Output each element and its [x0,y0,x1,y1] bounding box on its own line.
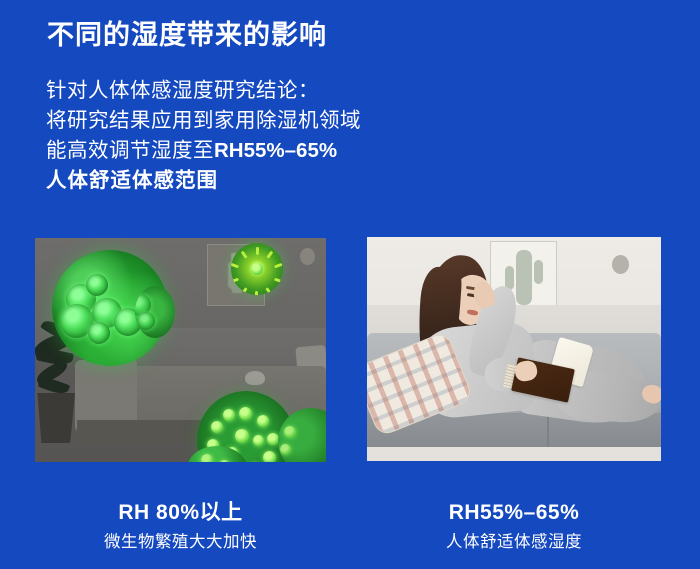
microbe-cell [280,444,291,455]
body-line-2: 将研究结果应用到家用除湿机领域 [46,106,361,136]
cactus-artwork-icon [516,250,532,305]
caption-subtitle: 微生物繁殖大大加快 [35,530,326,554]
page-title: 不同的湿度带来的影响 [47,17,327,53]
microbe-cell [257,415,269,427]
microbe-cell [88,322,110,344]
microbe-cell [284,426,296,438]
caption-high-humidity: RH 80%以上 微生物繁殖大大加快 [35,500,326,554]
caption-subtitle: 人体舒适体感湿度 [367,530,661,554]
microbe-cell [251,263,263,275]
body-line-4: 人体舒适体感范围 [46,166,361,196]
humidity-infographic-poster: 不同的湿度带来的影响 针对人体体感湿度研究结论： 将研究结果应用到家用除湿机领域… [0,0,700,569]
microbe-cell [223,409,235,421]
body-line-1: 针对人体体感湿度研究结论： [46,76,361,106]
microbe-cell [239,407,252,420]
plant-pot [35,393,75,443]
microbe-orb-partial-right [135,286,175,338]
wall-knob-icon [300,248,315,265]
microbe-cell [137,312,155,330]
sofa-seam [547,413,549,447]
microbe-cell [211,421,223,433]
microbe-cell [201,454,213,462]
microbe-cell [263,451,276,462]
caption-title: RH55%–65% [367,500,661,526]
caption-comfort-humidity: RH55%–65% 人体舒适体感湿度 [367,500,661,554]
photo-high-humidity [35,238,326,462]
body-line-3-prefix: 能高效调节湿度至 [46,139,214,162]
body-line-3-highlight: RH55%–65% [214,139,337,162]
body-line-3: 能高效调节湿度至RH55%–65% [46,136,361,166]
microbe-orb-virus [231,243,283,295]
microbe-cell [253,435,264,446]
caption-title: RH 80%以上 [35,500,326,526]
photo-comfort-humidity [367,237,661,461]
wall-knob-icon [612,255,629,274]
body-copy-block: 针对人体体感湿度研究结论： 将研究结果应用到家用除湿机领域 能高效调节湿度至RH… [46,76,361,196]
microbe-cell [235,429,249,443]
sofa-small-pillow [245,371,265,385]
microbe-cell [86,274,108,296]
